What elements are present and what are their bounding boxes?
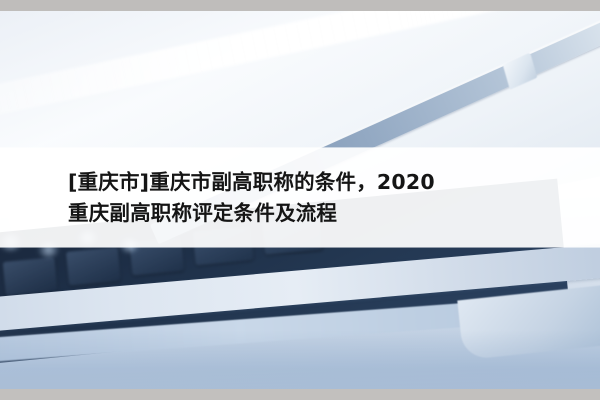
title-banner: [重庆市]重庆市副高职称的条件，2020 重庆副高职称评定条件及流程 — [0, 148, 600, 247]
keyboard-key — [66, 247, 121, 286]
article-thumbnail-card[interactable]: [重庆市]重庆市副高职称的条件，2020 重庆副高职称评定条件及流程 — [0, 0, 600, 400]
top-edge-bar — [0, 0, 600, 11]
bottom-edge-bar — [0, 389, 600, 400]
keyboard-key — [3, 257, 58, 296]
article-title: [重庆市]重庆市副高职称的条件，2020 重庆副高职称评定条件及流程 — [0, 167, 449, 229]
